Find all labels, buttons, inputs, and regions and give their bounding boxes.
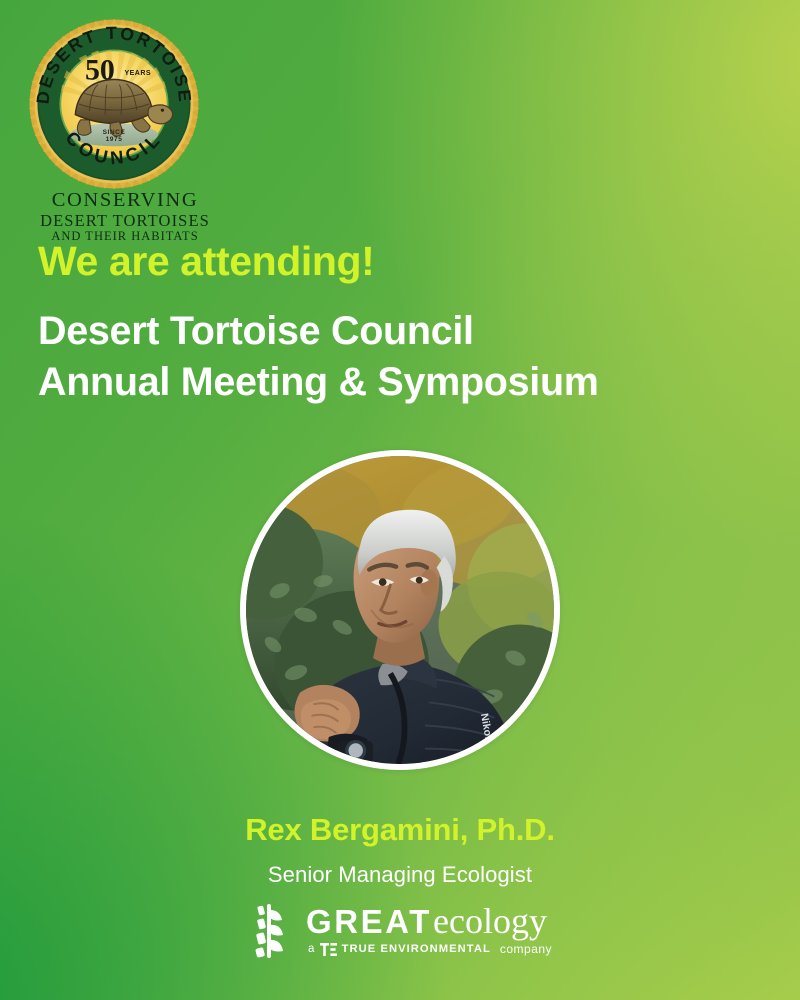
brand-word-ecology: ecology [433, 903, 547, 939]
speaker-portrait-image: Nikon [246, 456, 554, 764]
wheat-stalk-icon [248, 904, 292, 958]
speaker-name: Rex Bergamini, Ph.D. [0, 812, 800, 848]
desert-tortoise-council-logo: 50 YEARS [20, 14, 220, 234]
svg-text:1975: 1975 [106, 136, 123, 143]
event-title-line-2: Annual Meeting & Symposium [38, 357, 599, 408]
seal-tagline-line-1: CONSERVING [30, 190, 220, 212]
announcement-kicker: We are attending! [38, 240, 374, 283]
speaker-portrait: Nikon [240, 450, 560, 770]
great-ecology-logo: GREAT ecology a TRUE ENVIRONM [0, 903, 800, 958]
seal-tagline-line-2: DESERT TORTOISES [30, 212, 220, 230]
seal-tagline: CONSERVING DESERT TORTOISES AND THEIR HA… [30, 190, 220, 243]
event-announcement-poster: 50 YEARS [0, 0, 800, 1000]
speaker-role: Senior Managing Ecologist [0, 862, 800, 888]
brand-tagline: a TRUE ENVIRONMENTAL company [308, 942, 552, 956]
true-environmental-monogram-icon [320, 943, 337, 956]
brand-tagline-suffix: company [500, 942, 552, 956]
svg-text:YEARS: YEARS [125, 70, 151, 77]
event-title-line-1: Desert Tortoise Council [38, 306, 599, 357]
desert-tortoise-council-seal-icon: 50 YEARS [26, 16, 202, 192]
brand-tagline-bold: TRUE ENVIRONMENTAL [342, 943, 491, 955]
event-title: Desert Tortoise Council Annual Meeting &… [38, 306, 599, 409]
wristwatch [338, 740, 373, 764]
seal-since-text: SINCE 1975 [103, 129, 126, 143]
brand-word-great: GREAT [306, 905, 432, 938]
svg-text:SINCE: SINCE [103, 129, 126, 136]
portrait-illustration: Nikon [246, 456, 554, 764]
brand-tagline-prefix: a [308, 943, 315, 955]
